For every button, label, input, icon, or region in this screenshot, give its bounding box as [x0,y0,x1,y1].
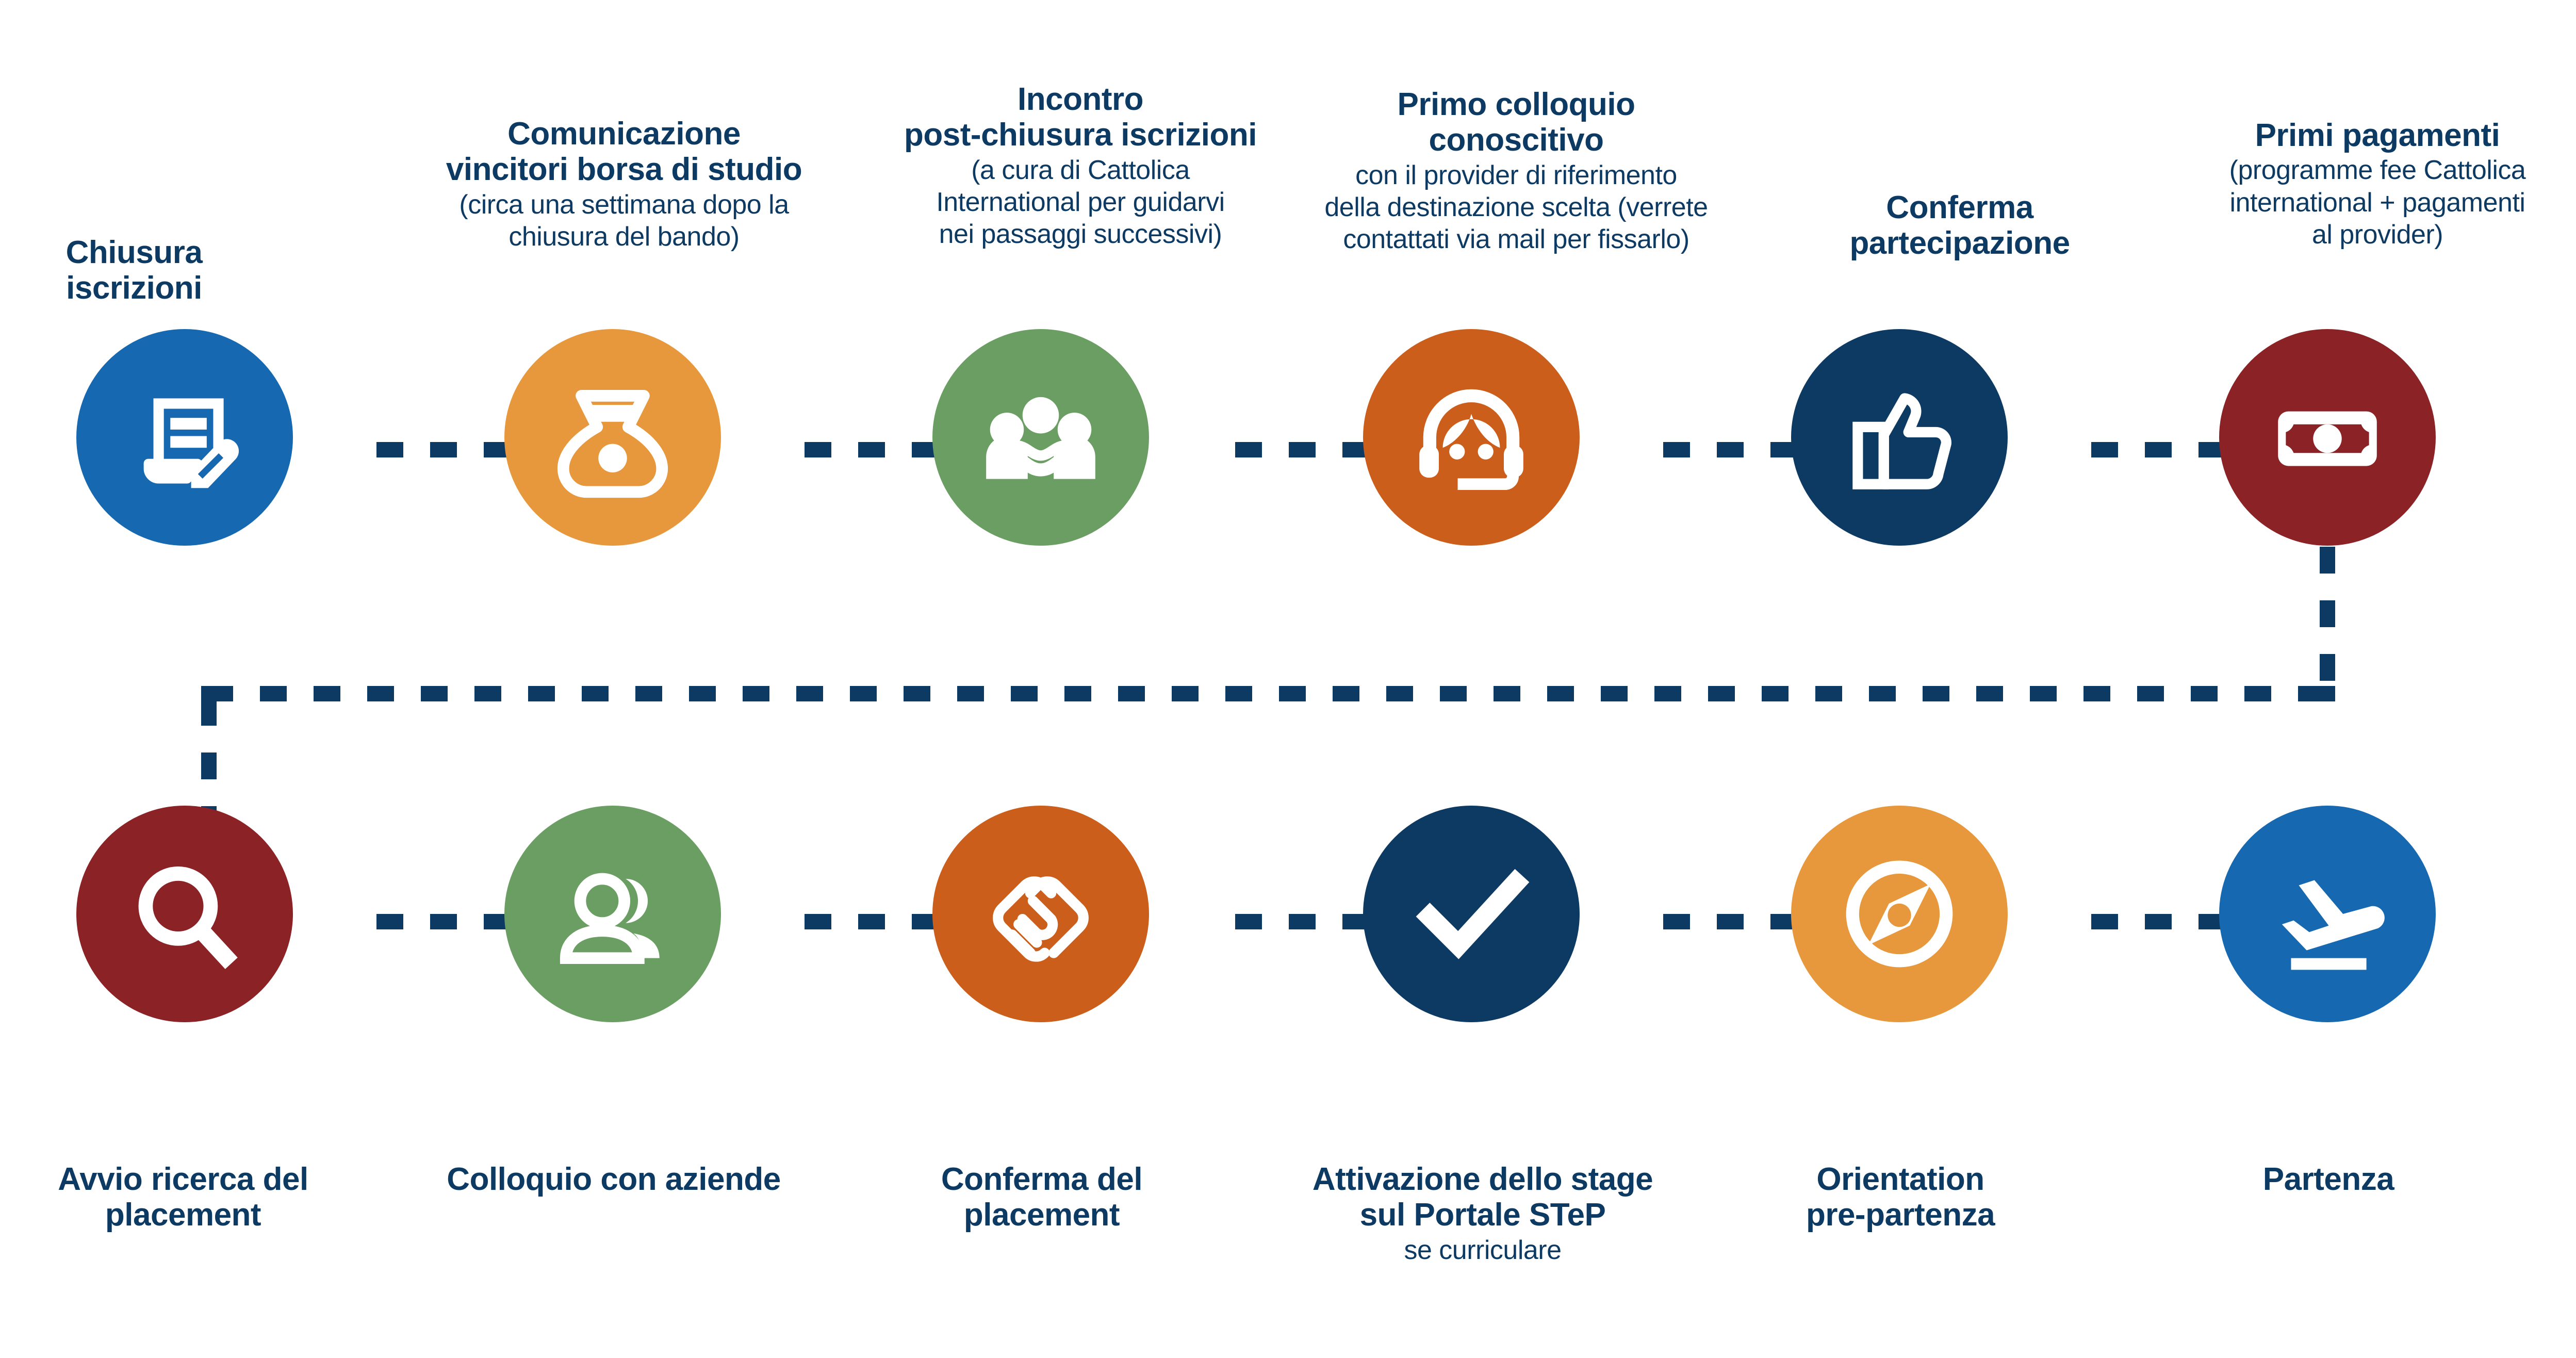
label-title-line1: Partenza [2143,1161,2514,1197]
label-title-line2: post-chiusura iscrizioni [877,117,1284,153]
infographic-canvas: Chiusura iscrizioni Comunicazione vincit… [0,0,2576,1358]
label-partenza: Partenza [2143,1161,2514,1197]
label-sub-line2: chiusura del bando) [428,222,820,252]
node-partenza[interactable] [2219,806,2436,1022]
label-sub-line1: (a cura di Cattolica [877,155,1284,185]
thumbs-up-icon [1834,372,1964,502]
label-title-line1: Orientation [1715,1161,2086,1197]
label-title-line2: placement [856,1197,1227,1233]
label-sub-line3: al provider) [2179,220,2576,250]
label-title-line2: vincitori borsa di studio [428,152,820,187]
label-title-line1: Colloquio con aziende [428,1161,799,1197]
label-sub-line1: se curriculare [1287,1235,1679,1265]
connector-bottom-4-5 [1663,914,1808,929]
label-primo-colloquio: Primo colloquio conoscitivo con il provi… [1305,87,1728,255]
label-sub-line3: contattati via mail per fissarlo) [1305,224,1728,254]
label-sub-line3: nei passaggi successivi) [877,219,1284,249]
checkmark-icon [1406,849,1536,979]
node-conferma-placement[interactable] [932,806,1149,1022]
label-colloquio-aziende: Colloquio con aziende [428,1161,799,1197]
label-conferma-placement: Conferma del placement [856,1161,1227,1233]
connector-vertical-right [2320,547,2335,701]
connector-bottom-2-3 [805,914,949,929]
label-primi-pagamenti: Primi pagamenti (programme fee Cattolica… [2179,118,2576,250]
label-title-line1: Conferma [1753,190,2166,225]
node-primo-colloquio[interactable] [1363,329,1580,546]
label-title-line2: pre-partenza [1715,1197,2086,1233]
node-chiusura-iscrizioni[interactable] [76,329,293,546]
label-sub-line1: (programme fee Cattolica [2179,155,2576,185]
label-incontro-post-chiusura: Incontro post-chiusura iscrizioni (a cur… [877,81,1284,250]
headset-support-icon [1406,372,1536,502]
label-title-line1: Primo colloquio [1305,87,1728,122]
connector-bottom-1-2 [376,914,521,929]
person-group-icon [548,849,678,979]
handshake-icon [976,849,1106,979]
label-title-line1: Comunicazione [428,116,820,152]
label-title-line1: Attivazione dello stage [1287,1161,1679,1197]
connector-bottom-3-4 [1235,914,1380,929]
label-conferma-partecipazione: Conferma partecipazione [1753,190,2166,261]
node-comunicazione-vincitori[interactable] [504,329,721,546]
label-title-line2: placement [0,1197,366,1233]
label-sub-line1: con il provider di riferimento [1305,160,1728,190]
connector-top-3-4 [1235,442,1380,457]
label-title-line1: Conferma del [856,1161,1227,1197]
label-attivazione-stage: Attivazione dello stage sul Portale STeP… [1287,1161,1679,1265]
people-group-icon [976,372,1106,502]
connector-top-2-3 [805,442,949,457]
label-title-line1: Incontro [877,81,1284,117]
label-orientation-pre-partenza: Orientation pre-partenza [1715,1161,2086,1233]
node-orientation-pre-partenza[interactable] [1791,806,2008,1022]
label-sub-line2: International per guidarvi [877,187,1284,217]
connector-top-5-6 [2091,442,2236,457]
label-title-line1: Avvio ricerca del [0,1161,366,1197]
connector-horizontal-return [206,686,2331,701]
node-primi-pagamenti[interactable] [2219,329,2436,546]
node-colloquio-aziende[interactable] [504,806,721,1022]
label-chiusura-iscrizioni: Chiusura iscrizioni [0,235,268,306]
magnifier-icon [120,849,250,979]
compass-icon [1834,849,1964,979]
label-title: Chiusura iscrizioni [0,235,268,306]
label-title-line2: conoscitivo [1305,122,1728,158]
connector-top-4-5 [1663,442,1808,457]
label-sub-line1: (circa una settimana dopo la [428,190,820,220]
document-pencil-icon [120,372,250,502]
label-title-line2: partecipazione [1753,225,2166,261]
label-title-line1: Primi pagamenti [2179,118,2576,153]
label-title-line2: sul Portale STeP [1287,1197,1679,1233]
node-avvio-ricerca-placement[interactable] [76,806,293,1022]
money-bag-icon [548,372,678,502]
connector-top-1-2 [376,442,521,457]
label-comunicazione-vincitori: Comunicazione vincitori borsa di studio … [428,116,820,252]
label-avvio-ricerca-placement: Avvio ricerca del placement [0,1161,366,1233]
airplane-takeoff-icon [2262,849,2392,979]
banknote-icon [2262,372,2392,502]
node-incontro-post-chiusura[interactable] [932,329,1149,546]
connector-bottom-5-6 [2091,914,2236,929]
label-sub-line2: della destinazione scelta (verrete [1305,192,1728,222]
node-conferma-partecipazione[interactable] [1791,329,2008,546]
node-attivazione-stage[interactable] [1363,806,1580,1022]
label-sub-line2: international + pagamenti [2179,188,2576,218]
